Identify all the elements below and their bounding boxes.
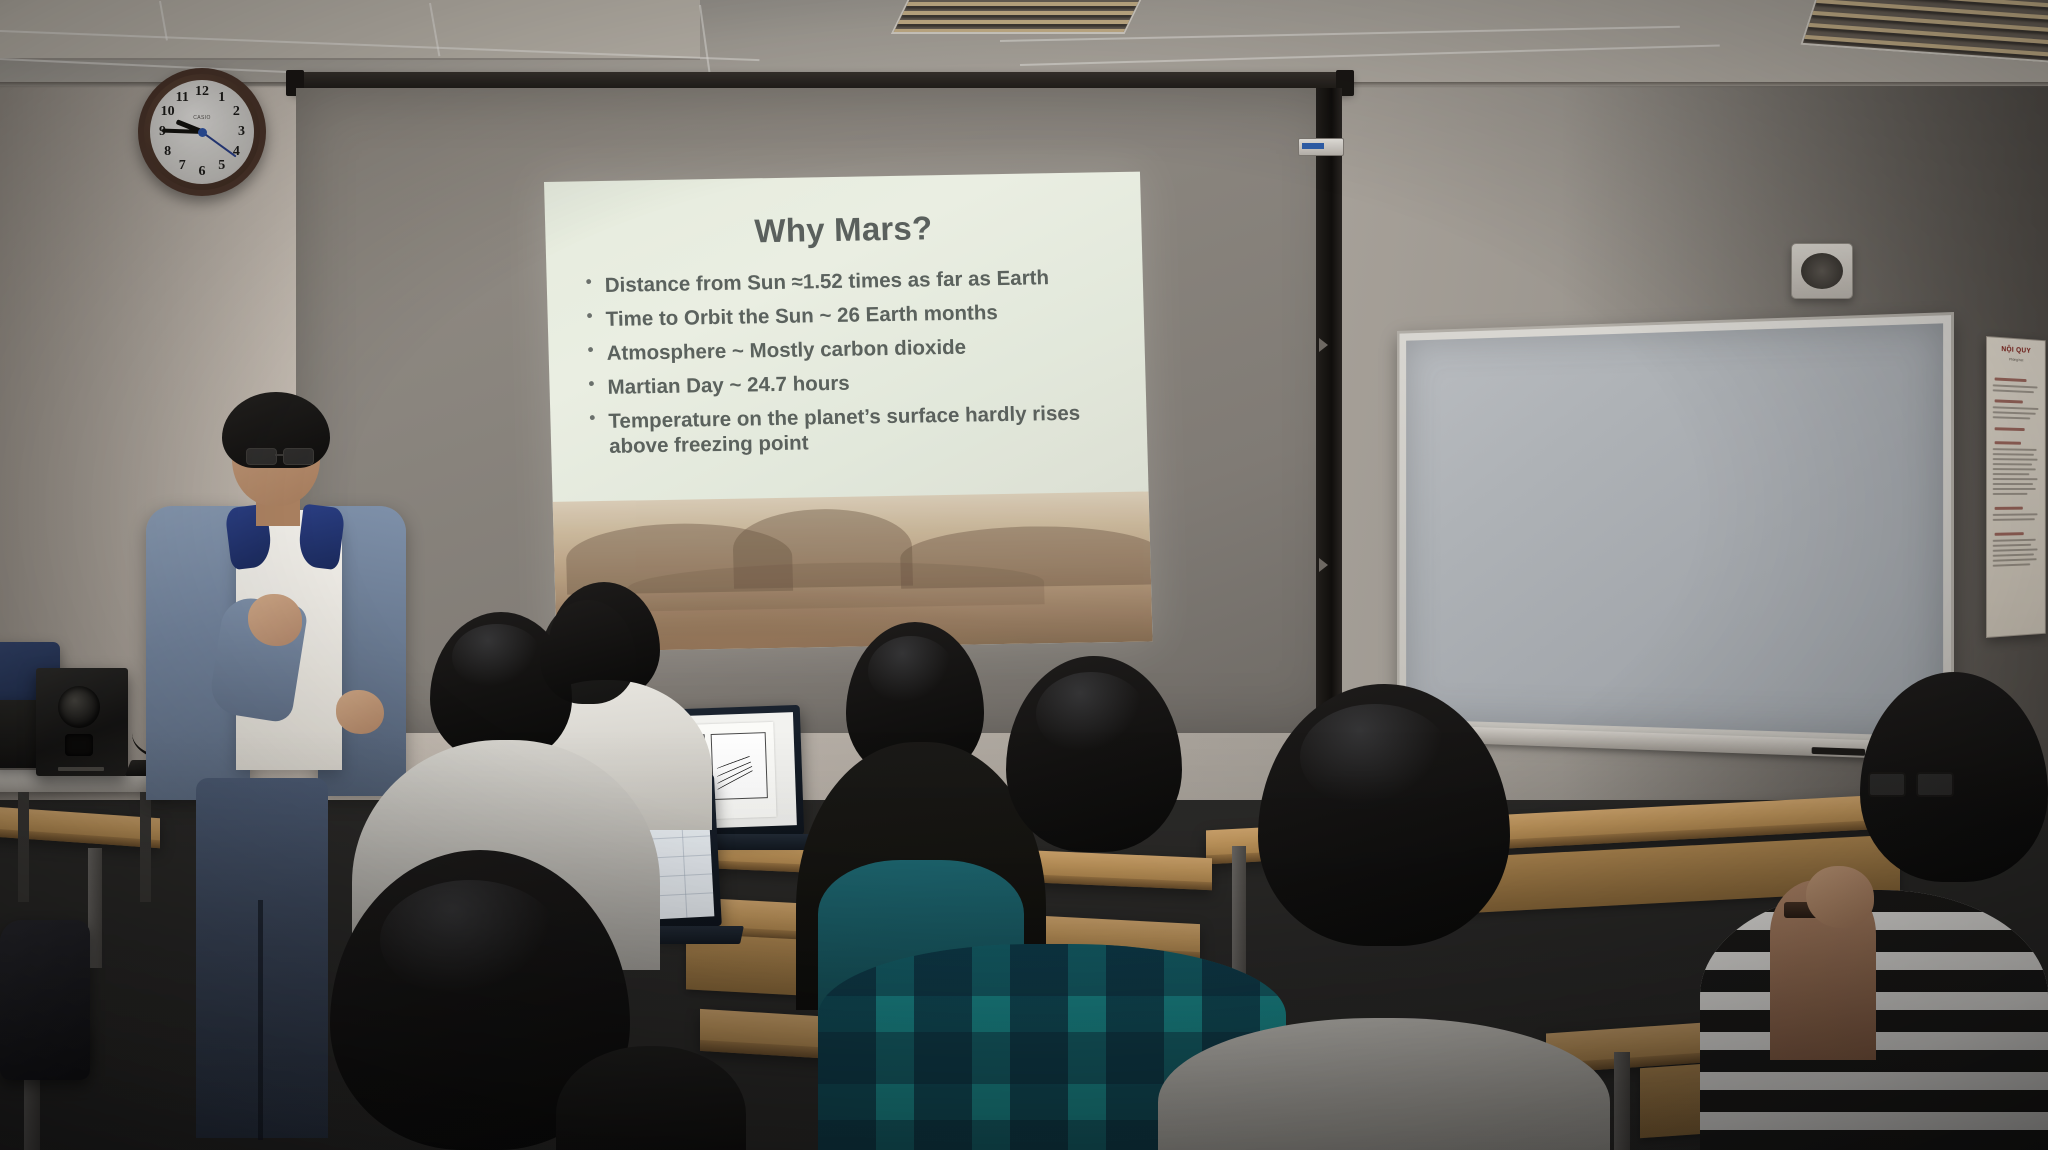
notice-poster: NỘI QUY Phòng học [1986, 336, 2046, 638]
glasses-icon [246, 448, 324, 464]
slide-bullet-item: Time to Orbit the Sun ~ 26 Earth months [583, 298, 1114, 332]
ceiling-light-grille [891, 0, 1144, 34]
whiteboard [1397, 312, 1954, 748]
clock-numeral: 1 [218, 90, 225, 106]
clock-second-hand [201, 131, 236, 157]
wall-clock: CASIO 12 1 2 3 4 5 6 7 8 9 10 11 [138, 68, 266, 196]
clock-face: CASIO 12 1 2 3 4 5 6 7 8 9 10 11 [150, 80, 254, 184]
slide-bullet-list: Distance from Sun ≈1.52 times as far as … [582, 264, 1117, 468]
clock-minute-hand [162, 129, 202, 134]
slide-bullet-item: Temperature on the planet’s surface hard… [586, 400, 1117, 459]
speaker-driver-icon [58, 686, 100, 728]
clock-numeral: 12 [195, 84, 209, 100]
projected-slide: Why Mars? Distance from Sun ≈1.52 times … [544, 172, 1153, 652]
whiteboard-surface [1406, 323, 1943, 736]
notice-title: NỘI QUY [1987, 345, 2045, 356]
wall-vent-icon [1791, 243, 1853, 299]
clock-numeral: 5 [218, 158, 225, 174]
clock-brand-label: CASIO [193, 115, 211, 121]
speaker [36, 668, 128, 776]
clock-numeral: 2 [233, 104, 240, 120]
slide-title: Why Mars? [545, 206, 1142, 254]
speaker-bass-port [65, 734, 93, 756]
clock-numeral: 7 [179, 158, 186, 174]
screen-control-sensor[interactable] [1298, 138, 1344, 156]
av-table-leg [140, 792, 151, 902]
av-table-leg [18, 792, 29, 902]
clock-numeral: 3 [238, 124, 245, 140]
clock-numeral: 10 [161, 104, 175, 120]
classroom-scene: CASIO 12 1 2 3 4 5 6 7 8 9 10 11 [0, 0, 2048, 1150]
student-striped-hand [1806, 866, 1874, 928]
ceiling-light-grille-right [1800, 0, 2048, 63]
clock-numeral: 11 [176, 90, 189, 106]
speaker-brand-logo [58, 767, 104, 771]
slide-bullet-item: Distance from Sun ≈1.52 times as far as … [582, 264, 1113, 298]
slide-bullet-item: Martian Day ~ 24.7 hours [585, 366, 1116, 400]
slide-bullet-item: Atmosphere ~ Mostly carbon dioxide [584, 332, 1115, 366]
clock-center-pin [198, 128, 207, 137]
notice-subtitle: Phòng học [1991, 356, 2041, 364]
clock-numeral: 4 [233, 144, 240, 160]
clock-numeral: 8 [164, 144, 171, 160]
glasses-icon-right-student [1868, 772, 1954, 794]
presenter-hand-lower [336, 690, 384, 734]
presenter-hand-gesture [248, 594, 302, 646]
clock-numeral: 6 [199, 164, 206, 180]
backpack [0, 920, 90, 1080]
screen-right-rail [1316, 88, 1342, 740]
presenter-jeans [196, 778, 328, 1138]
